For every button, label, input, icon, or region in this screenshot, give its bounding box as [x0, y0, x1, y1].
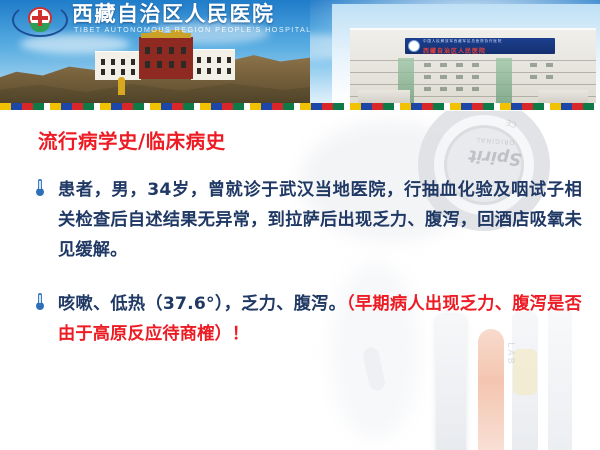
bullet-segment: 咳嗽、低热（37.6°），乏力、腹泻。 — [58, 294, 346, 314]
bullet-text-1: 患者，男，34岁，曾就诊于武汉当地医院，行抽血化验及咽试子相关检查后自述结果无异… — [58, 175, 582, 265]
prayer-flag-stripe — [0, 103, 600, 110]
list-item: 患者，男，34岁，曾就诊于武汉当地医院，行抽血化验及咽试子相关检查后自述结果无异… — [34, 175, 582, 265]
thermometer-icon — [36, 179, 44, 196]
slide-root: 中国人民解放军西藏军区总医院协作医院 西藏自治区人民医院 — [0, 0, 600, 450]
hospital-sign-subtext: 中国人民解放军西藏军区总医院协作医院 — [423, 39, 502, 44]
hospital-name-cn: 西藏自治区人民医院 — [72, 2, 275, 26]
bullet-list: 患者，男，34岁，曾就诊于武汉当地医院，行抽血化验及咽试子相关检查后自述结果无异… — [34, 175, 582, 359]
hospital-facade: 中国人民解放军西藏军区总医院协作医院 西藏自治区人民医院 — [350, 28, 596, 104]
bullet-segment: 患者，男，34岁，曾就诊于武汉当地医院，行抽血化验及咽试子相关检查后自述结果无异… — [58, 180, 582, 260]
list-item: 咳嗽、低热（37.6°），乏力、腹泻。（早期病人出现乏力、腹泻是否由于高原反应待… — [34, 289, 582, 349]
header-banner: 中国人民解放军西藏军区总医院协作医院 西藏自治区人民医院 — [0, 0, 600, 110]
hospital-sign-text: 西藏自治区人民医院 — [423, 46, 486, 55]
thermometer-icon — [36, 293, 44, 310]
hospital-signboard: 中国人民解放军西藏军区总医院协作医院 西藏自治区人民医院 — [405, 38, 555, 54]
page-title: 流行病学史/临床病史 — [38, 129, 226, 155]
hospital-name-en: TIBET AUTONOMOUS REGION PEOPLE'S HOSPITA… — [74, 25, 312, 34]
golden-stupa-shape — [118, 77, 125, 95]
palace-building-shape — [95, 33, 235, 79]
hospital-cross-emblem-icon — [12, 3, 68, 37]
bullet-text-2: 咳嗽、低热（37.6°），乏力、腹泻。（早期病人出现乏力、腹泻是否由于高原反应待… — [58, 289, 582, 349]
hospital-building-photo: 中国人民解放军西藏军区总医院协作医院 西藏自治区人民医院 — [332, 4, 600, 104]
hospital-sign-logo-icon — [408, 40, 420, 52]
